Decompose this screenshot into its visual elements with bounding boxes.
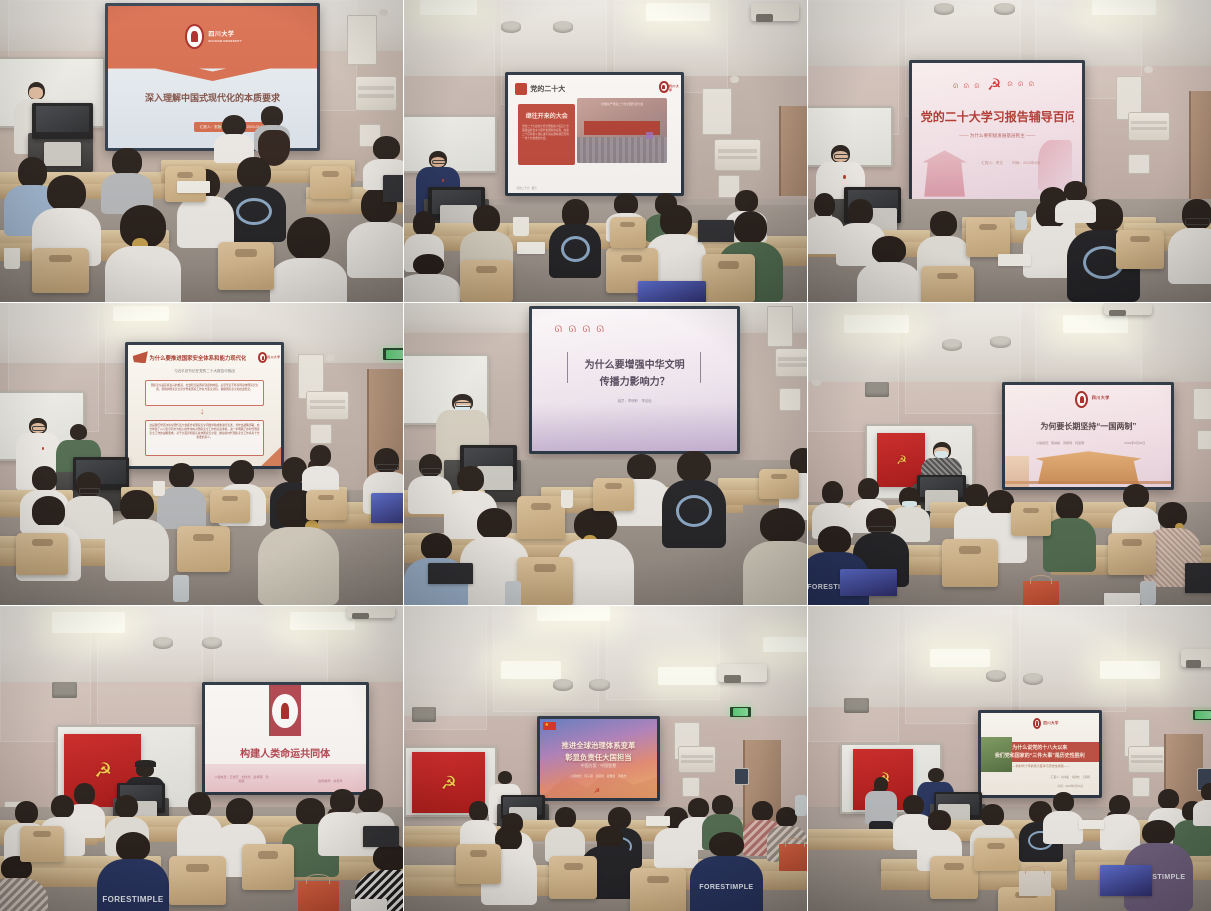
audience-member [1055,181,1096,223]
ac-unit [678,746,716,772]
exit-sign-icon [1193,710,1211,721]
slide-panel: 继往开来的大会 党的二十大是在全党全国各族人民迈上全面建设社会主义现代化国家新征… [518,104,575,165]
slide-title-line-2: 彰显负责任大国担当 [546,752,651,763]
chair [517,496,565,538]
slide-title-line-1: 为什么说党的十八大以来 [987,744,1093,751]
chair [921,266,974,302]
photo-tile-2: 党的二十大 四川大学 继往开来的大会 党的二十大是在全党全国各族人民迈上全面建设… [404,0,807,302]
party-emblem-icon: ☭ [896,454,906,466]
audience-member: FORESTIMPLE [690,832,763,911]
projector-icon [347,606,395,618]
slide-org-name-latin: SICHUAN UNIVERSITY [208,40,242,43]
security-camera-icon [730,76,739,83]
slide-subtitle: ——新时代十年的伟大变革与历史性成就—— [990,764,1089,768]
sichuan-university-logo-icon [659,81,669,93]
wall-switch [310,424,332,444]
slide-lead: 习近平总书记在党的二十大报告中指出 [143,369,266,374]
slide-meta-left: 汇报人：李文 [977,161,1008,166]
chair [1011,502,1052,535]
ceiling-speaker-icon [501,21,521,33]
audience-member: FORESTIMPLE [97,832,170,911]
chair [593,478,633,511]
ceiling-speaker-icon [942,339,962,351]
chair [20,826,64,863]
door [779,106,807,197]
slide-footer: 党的二十大 · 报告 [516,186,536,190]
audience-member [545,807,585,862]
slide-org-name: 四川大学 [669,84,681,92]
wall-switch [682,777,700,797]
slide-title-line-1: 推进全球治理体系变革 [546,740,651,751]
face-mask-icon [902,501,917,506]
ceiling-light-icon [1063,315,1128,333]
slide-content: ☭ ᘏ ᘏ ᘏ ᘏ ᘏ ᘏ 党的二十大学习报告辅导百问 —— 为什么要积极发展基… [912,63,1082,199]
ceiling-speaker-icon [934,3,954,15]
photo-tile-1: 四川大学 SICHUAN UNIVERSITY 深入理解中国式现代化的本质要求 … [0,0,403,302]
student-laptop [383,175,403,202]
slide-meta-right: 2023年6月20日 [1112,441,1158,445]
paper-bag [779,844,807,871]
slide-title: 党的二十大学习报告辅导百问 [921,108,1074,125]
slide-subtitle: —— 为什么要积极发展基层民主 —— [926,133,1069,139]
ceiling-light-icon [646,3,710,21]
ceiling-speaker-icon [202,637,222,649]
slide-title: 深入理解中国式现代化的本质要求 [118,91,307,104]
ac-unit [306,391,348,420]
ac-unit [775,348,807,377]
audience-member [662,451,726,548]
student-laptop [840,569,897,596]
chair [759,469,799,499]
slide-title: 构建人类命运共同体 [213,745,358,760]
door [1189,91,1211,200]
ceiling-light-icon [844,315,909,333]
chair [242,844,294,890]
sichuan-university-logo-icon [258,352,267,363]
student-laptop [428,563,472,584]
chair [930,856,979,899]
projection-screen: 党的二十大 四川大学 继往开来的大会 党的二十大是在全党全国各族人民迈上全面建设… [505,72,684,196]
paper-bag [1019,871,1051,895]
chair [460,260,512,302]
slide-content: 党的二十大 四川大学 继往开来的大会 党的二十大是在全党全国各族人民迈上全面建设… [508,75,681,193]
slide-content: 四川大学 为何要长期坚持“一国两制” 小组成员：陈婷婷 周佩冉 何思明 2023… [1005,385,1171,488]
slide-archway-illustration [1025,451,1151,484]
chair [517,557,573,605]
audience-member [549,199,601,278]
wall-switch [1128,154,1150,174]
chair [310,166,350,199]
sichuan-university-logo-icon [1075,391,1088,408]
slide-title: 为何要长期坚持“一国两制” [1014,421,1163,432]
ceiling-light-icon [763,637,807,652]
slide-content: ᘏ ᘏ ᘏ ᘏ 为什么要增强中华文明 传播力影响力？ 组员：李明轩 李佳怡 [532,309,738,451]
down-arrow-icon: ↓ [200,407,205,416]
chair [610,217,646,247]
student-laptop [371,493,403,523]
ceiling-speaker-icon [990,336,1010,348]
audience-member [105,490,169,581]
slide-meta-right: 指导教师：刘老师 [304,779,356,783]
chair [456,844,500,884]
slide-content: 为什么要推进国家安全体系和能力现代化 四川大学 习近平总书记在党的二十大报告中指… [128,345,281,466]
chair [1116,230,1165,269]
tee-text: FORESTIMPLE [100,895,167,904]
ceiling-speaker-icon [553,21,573,33]
ceiling-speaker-icon [1023,673,1043,685]
slide-quote-2: 这是我们党首次将全国代表大会报告将国家安全问题单独成章进行论述，并作出战略部署，… [149,424,260,440]
student-laptop [363,826,399,847]
wall-speaker-icon [844,698,868,713]
card-reader [734,768,748,785]
slide-org-name: 四川大学 [208,29,234,38]
audience-member [105,205,182,302]
chair [974,838,1019,872]
projection-screen: ᘏ ᘏ ᘏ ᘏ 为什么要增强中华文明 传播力影响力？ 组员：李明轩 李佳怡 [529,306,741,454]
flying-birds-icon: ᘏ ᘏ ᘏ ᘏ [555,325,606,334]
student-laptop [1185,563,1211,593]
ceiling-light-icon [420,0,476,15]
chair [549,856,597,899]
china-flag-icon [543,722,556,730]
chair [218,242,274,290]
audience-member [214,115,254,163]
photo-tile-6: ☭ 四川大学 为何要长期坚持“一国两制” 小组成员：陈婷婷 周佩冉 何思明 20… [808,303,1211,605]
chair [702,254,754,302]
chair [177,526,229,571]
ceiling-light-icon [1100,661,1161,679]
audience-member [1193,783,1211,826]
ceiling-speaker-icon [153,637,173,649]
slide-content: 构建人类命运共同体 小组成员：王浩宇 刘欣然 赵梓萌 孙雨辰 指导教师：刘老师 [205,685,366,792]
slide-org-name: 四川大学 [267,355,280,359]
audience-member [404,254,460,302]
slide-content: 推进全球治理体系变革 彰显负责任大国担当 中国方案 · 中国智慧 小组成员：周子… [540,719,657,798]
chair [16,533,68,575]
slide-meta-right: 时间：2023年6月15日 [1047,784,1094,788]
ceiling-speaker-icon [589,679,609,691]
audience-member [808,193,844,253]
audience-member [0,856,48,911]
face-mask-icon [935,451,948,458]
exit-sign-icon [730,707,750,718]
party-emblem-icon: ☭ [441,774,456,792]
wall-switch [1197,430,1211,450]
party-emblem-icon: ☭ [594,788,600,795]
student-laptop [638,281,707,302]
photo-tile-3: ☭ ᘏ ᘏ ᘏ ᘏ ᘏ ᘏ 党的二十大学习报告辅导百问 —— 为什么要积极发展基… [808,0,1211,302]
sichuan-university-logo-icon [272,694,298,728]
podium-monitor [32,103,92,139]
tiananmen-illustration [922,150,966,196]
wall-switch [779,388,801,411]
slide-photo-caption: 中国共产党第二十次全国代表大会 [581,102,664,106]
ceiling-light-icon [52,612,125,633]
slide-org-name: 四川大学 [1092,395,1110,401]
ac-unit [355,76,397,111]
flying-birds-icon: ᘏ ᘏ ᘏ [953,84,981,90]
chair [306,490,346,520]
slide-quote-box-1: 国家安全是民族复兴的根基，社会稳定是国家强盛的前提。必须坚定不移贯彻总体国家安全… [145,380,264,405]
projector-icon [1181,649,1211,667]
ceiling-light-icon [113,306,169,321]
photo-tile-8: ☭ 推进全球治理体系变革 彰显负责任大国担当 中国方案 · 中国智慧 小组成员：… [404,606,807,911]
slide-photo: 中国共产党第二十次全国代表大会 [577,98,667,163]
slide-header: 党的二十大 [530,84,565,94]
wall-speaker-icon [865,382,889,397]
slide-meta-left: 汇报人：林书航 许静怡 王雨桐 [1047,775,1094,779]
chair [32,248,88,293]
audience-member [302,445,338,493]
slide-panel-body: 党的二十大是在全党全国各族人民迈上全面建设社会主义现代化国家新征程、向第二个百年… [522,125,571,142]
projection-screen: 为什么要推进国家安全体系和能力现代化 四川大学 习近平总书记在党的二十大报告中指… [125,342,284,469]
audience-member [1168,199,1211,284]
slide-title-line-2: 传播力影响力？ [542,373,727,388]
paper-bag [298,881,338,911]
slide-panel-title: 继往开来的大会 [522,111,571,120]
ac-unit [1128,112,1171,141]
slide-meta: 小组成员：周子涵 吴晓峰 郑雅雯 黄俊杰 [552,774,646,778]
slide-title-line-1: 为什么要增强中华文明 [542,356,727,371]
projector-icon [751,3,799,21]
projection-screen: 构建人类命运共同体 小组成员：王浩宇 刘欣然 赵梓萌 孙雨辰 指导教师：刘老师 [202,682,369,795]
slide-meta-left: 小组成员：陈婷婷 周佩冉 何思明 [1025,441,1095,445]
photo-tile-7: ☭ 构建人类命运共同体 小组成员：王浩宇 刘欣然 赵梓萌 孙雨辰 指导教师：刘老… [0,606,403,911]
ceiling-light-icon [501,661,561,679]
ceiling-light-icon [930,649,991,667]
ceiling-light-icon [658,667,718,685]
ac-unit [714,139,760,171]
slide-quote-box-2: 这是我们党首次将全国代表大会报告将国家安全问题单独成章进行论述，并作出战略部署，… [145,420,264,456]
student-laptop [1100,865,1153,896]
wall-panel [767,306,793,347]
ceiling-light-icon [1092,0,1157,15]
slide-title: 为什么要推进国家安全体系和能力现代化 [149,354,246,362]
exit-sign-icon [383,348,403,360]
slide-meta-left: 小组成员：王浩宇 刘欣然 赵梓萌 孙雨辰 [214,775,269,783]
projection-screen: 四川大学 为何要长期坚持“一国两制” 小组成员：陈婷婷 周佩冉 何思明 2023… [1002,382,1174,491]
wall-panel [347,15,377,65]
chair [210,490,250,523]
ceiling-speaker-icon [986,670,1006,682]
slide-content: 四川大学 为什么说党的十八大以来 我们党和国家的“三件大事”是历史性胜利 ——新… [981,713,1098,795]
security-camera-icon [812,379,821,386]
photo-collage-grid: 四川大学 SICHUAN UNIVERSITY 深入理解中国式现代化的本质要求 … [0,0,1211,909]
photo-tile-9: ☭ 四川大学 为什么说党的十八大以来 我们党和国家的“三件大事”是历史性胜利 —… [808,606,1211,911]
audience-member [857,236,922,302]
projector-icon [718,664,766,682]
wall-panel [1193,388,1211,420]
paper-bag [1023,581,1059,605]
chair [169,856,225,905]
slide-org-name: 四川大学 [1043,720,1059,725]
chair [630,868,686,911]
sichuan-university-logo-icon [185,24,204,48]
flying-birds-icon: ᘏ ᘏ ᘏ [1008,82,1036,88]
chair [942,539,999,587]
slide-title-line-2: 我们党和国家的“三件大事”是历史性胜利 [987,752,1093,759]
wall-speaker-icon [52,682,76,697]
party-emblem-icon: ☭ [94,761,111,781]
projection-screen: 推进全球治理体系变革 彰显负责任大国担当 中国方案 · 中国智慧 小组成员：周子… [537,716,660,801]
audience-member [743,508,807,605]
ceiling-light-icon [290,612,354,630]
wall-speaker-icon [412,707,436,722]
chair [966,217,1011,256]
tee-text: FORESTIMPLE [693,884,760,891]
sichuan-university-logo-icon [1033,718,1041,730]
slide-quote-1: 国家安全是民族复兴的根基，社会稳定是国家强盛的前提。必须坚定不移贯彻总体国家安全… [149,384,260,392]
photo-tile-4: 为什么要推进国家安全体系和能力现代化 四川大学 习近平总书记在党的二十大报告中指… [0,303,403,605]
audience-member [270,217,347,302]
student-laptop [698,220,734,241]
photo-tile-5: ᘏ ᘏ ᘏ ᘏ 为什么要增强中华文明 传播力影响力？ 组员：李明轩 李佳怡 [404,303,807,605]
audience-member [1043,792,1084,844]
party-emblem-icon: ☭ [987,78,1001,94]
chair [1108,533,1157,575]
projector-icon [1104,303,1153,315]
security-camera-icon [379,9,388,16]
ceiling-light-icon [537,606,610,621]
ceiling-speaker-icon [994,3,1014,15]
slide-subtitle: 中国方案 · 中国智慧 [549,763,647,769]
projection-screen: 四川大学 为什么说党的十八大以来 我们党和国家的“三件大事”是历史性胜利 ——新… [978,710,1101,798]
ac-unit [1128,746,1166,772]
wall-panel [702,88,732,135]
